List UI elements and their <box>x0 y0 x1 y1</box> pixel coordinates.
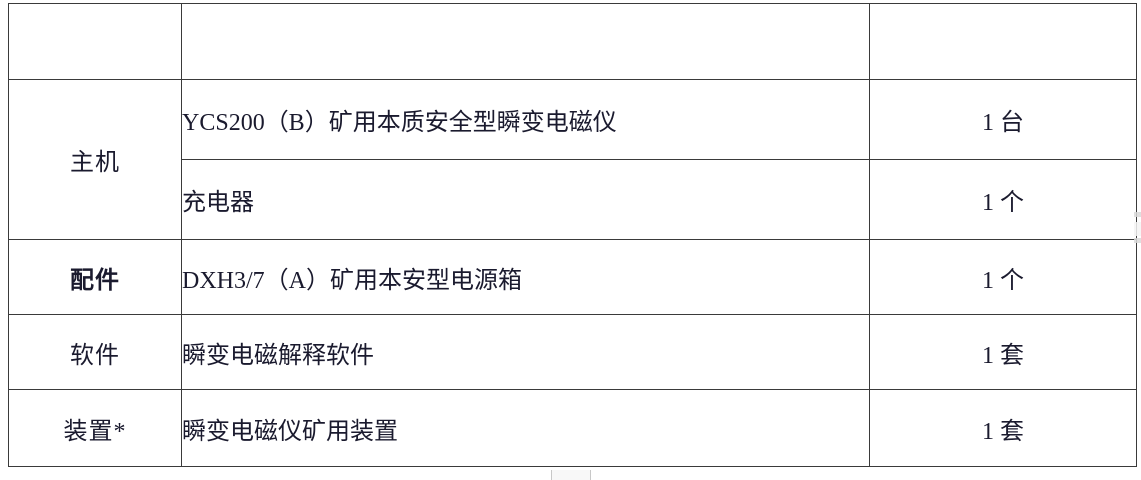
table-row: 软件 瞬变电磁解释软件 1 套 <box>9 315 1137 390</box>
cell-name-power-box: DXH3/7（A）矿用本安型电源箱 <box>182 240 870 315</box>
cell-part-device: 装置* <box>9 390 182 467</box>
table-row: 主机 YCS200（B）矿用本质安全型瞬变电磁仪 1 台 <box>9 80 1137 160</box>
bottom-edge-artifact <box>551 470 591 480</box>
right-edge-marker-bottom <box>1134 238 1141 243</box>
cell-quantity-device: 1 套 <box>870 390 1137 467</box>
cell-name-charger: 充电器 <box>182 160 870 240</box>
cell-quantity-host-instrument: 1 台 <box>870 80 1137 160</box>
cell-quantity-power-box: 1 个 <box>870 240 1137 315</box>
cell-quantity-charger: 1 个 <box>870 160 1137 240</box>
column-header-name: 名称 <box>182 4 870 80</box>
cell-part-software: 软件 <box>9 315 182 390</box>
right-edge-artifact <box>1134 222 1141 236</box>
cell-quantity-software: 1 套 <box>870 315 1137 390</box>
table-header: 部 件 名称 数量 <box>9 4 1137 80</box>
cell-part-host: 主机 <box>9 80 182 240</box>
table-body: 主机 YCS200（B）矿用本质安全型瞬变电磁仪 1 台 充电器 1 个 配件 … <box>9 80 1137 467</box>
right-edge-marker-top <box>1134 212 1141 217</box>
cell-name-software: 瞬变电磁解释软件 <box>182 315 870 390</box>
cell-name-device: 瞬变电磁仪矿用装置 <box>182 390 870 467</box>
table-header-row: 部 件 名称 数量 <box>9 4 1137 80</box>
table-row: 配件 DXH3/7（A）矿用本安型电源箱 1 个 <box>9 240 1137 315</box>
cell-name-host-instrument: YCS200（B）矿用本质安全型瞬变电磁仪 <box>182 80 870 160</box>
table-row: 装置* 瞬变电磁仪矿用装置 1 套 <box>9 390 1137 467</box>
equipment-spec-table-container: 部 件 名称 数量 主机 YCS200（B）矿用本质安全型瞬变电磁仪 1 台 充… <box>8 3 1133 465</box>
column-header-part: 部 件 <box>9 4 182 80</box>
cell-part-accessory: 配件 <box>9 240 182 315</box>
column-header-quantity: 数量 <box>870 4 1137 80</box>
equipment-spec-table: 部 件 名称 数量 主机 YCS200（B）矿用本质安全型瞬变电磁仪 1 台 充… <box>8 3 1137 467</box>
